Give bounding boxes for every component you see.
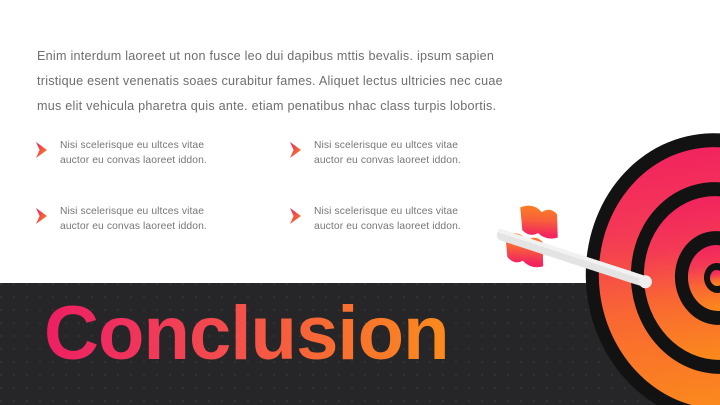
paragraph-line-1: Enim interdum laoreet ut non fusce leo d… <box>37 44 542 69</box>
bullet-text: Nisi scelerisque eu ultces vitae auctor … <box>60 204 207 234</box>
bullet-line-2: auctor eu convas laoreet iddon. <box>314 219 461 234</box>
bullet-item-3: Nisi scelerisque eu ultces vitae auctor … <box>34 204 288 270</box>
paragraph-line-3: mus elit vehicula pharetra quis ante. et… <box>37 94 542 119</box>
bullet-line-2: auctor eu convas laoreet iddon. <box>60 219 207 234</box>
bullet-line-2: auctor eu convas laoreet iddon. <box>314 153 461 168</box>
bullet-line-1: Nisi scelerisque eu ultces vitae <box>314 138 461 153</box>
bullet-item-2: Nisi scelerisque eu ultces vitae auctor … <box>288 138 542 204</box>
bullet-line-1: Nisi scelerisque eu ultces vitae <box>60 204 207 219</box>
bullet-grid: Nisi scelerisque eu ultces vitae auctor … <box>34 138 542 270</box>
bullet-line-1: Nisi scelerisque eu ultces vitae <box>314 204 461 219</box>
bullet-text: Nisi scelerisque eu ultces vitae auctor … <box>314 204 461 234</box>
chevron-right-icon <box>288 140 305 160</box>
slide-title: Conclusion <box>44 296 449 372</box>
bullet-text: Nisi scelerisque eu ultces vitae auctor … <box>314 138 461 168</box>
body-paragraph: Enim interdum laoreet ut non fusce leo d… <box>37 44 542 119</box>
bullet-item-1: Nisi scelerisque eu ultces vitae auctor … <box>34 138 288 204</box>
bullet-text: Nisi scelerisque eu ultces vitae auctor … <box>60 138 207 168</box>
chevron-right-icon <box>288 206 305 226</box>
bullet-line-1: Nisi scelerisque eu ultces vitae <box>60 138 207 153</box>
chevron-right-icon <box>34 140 51 160</box>
paragraph-line-2: tristique esent venenatis soaes curabitu… <box>37 69 542 94</box>
bullet-line-2: auctor eu convas laoreet iddon. <box>60 153 207 168</box>
slide-canvas: Enim interdum laoreet ut non fusce leo d… <box>0 0 720 405</box>
chevron-right-icon <box>34 206 51 226</box>
dart-arrow-icon <box>496 198 696 298</box>
